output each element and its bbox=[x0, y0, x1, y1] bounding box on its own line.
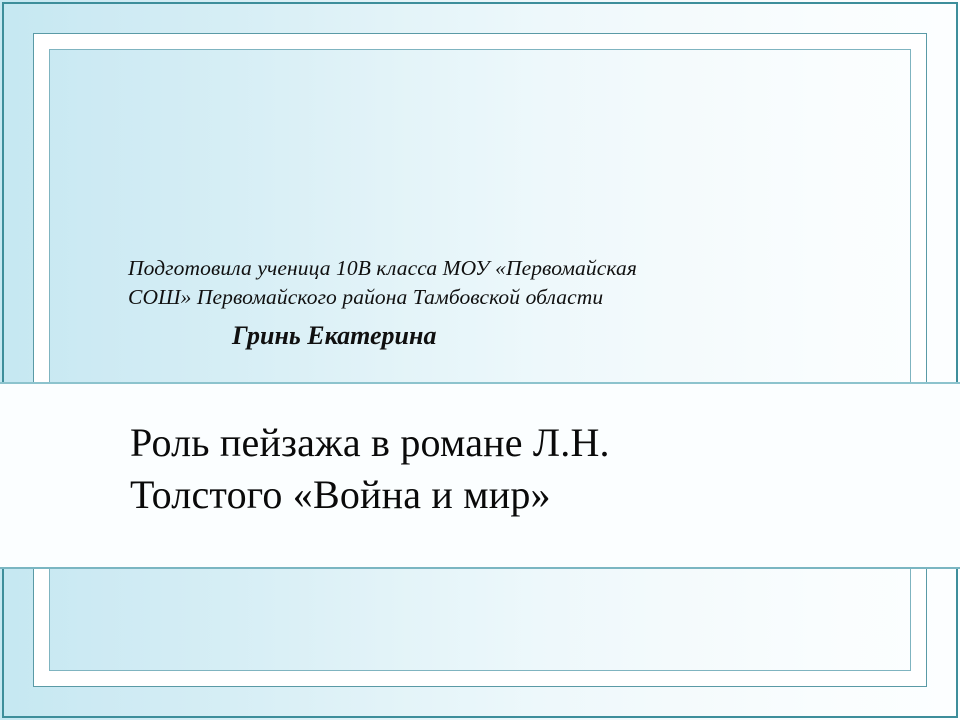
slide-frame-outer-hairline bbox=[33, 33, 927, 687]
slide-outer-border bbox=[2, 2, 958, 718]
page-title-line-2: Толстого «Война и мир» bbox=[130, 469, 890, 521]
page-title: Роль пейзажа в романе Л.Н. Толстого «Вой… bbox=[130, 417, 890, 521]
slide-white-frame-ring bbox=[33, 33, 927, 687]
slide-frame-inner-hairline bbox=[49, 49, 911, 671]
subtitle-line-2: СОШ» Первомайского района Тамбовской обл… bbox=[128, 283, 828, 312]
subtitle-block: Подготовила ученица 10В класса МОУ «Перв… bbox=[128, 254, 828, 353]
subtitle-line-1: Подготовила ученица 10В класса МОУ «Перв… bbox=[128, 254, 828, 283]
presentation-slide: Подготовила ученица 10В класса МОУ «Перв… bbox=[0, 0, 960, 720]
page-title-line-1: Роль пейзажа в романе Л.Н. bbox=[130, 417, 890, 469]
author-name: Гринь Екатерина bbox=[232, 319, 828, 353]
